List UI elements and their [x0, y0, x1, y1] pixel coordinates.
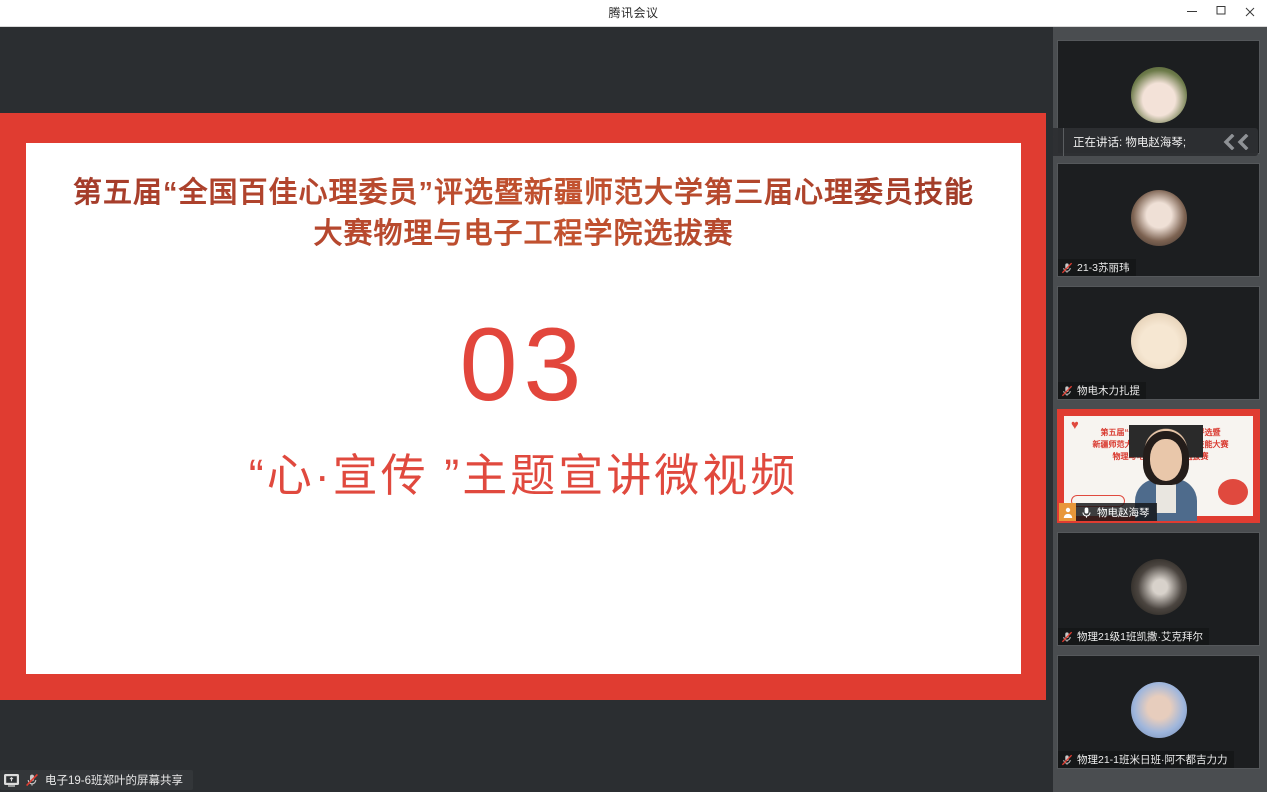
window-title: 腾讯会议: [0, 0, 1267, 26]
speaking-banner-chevrons[interactable]: [1223, 134, 1258, 150]
speaking-banner-mic-cell: [1053, 128, 1064, 156]
slide-page: 第五届“全国百佳心理委员”评选暨新疆师范大学第三届心理委员技能大赛物理与电子工程…: [26, 143, 1021, 674]
participant-tile-4-active-speaker[interactable]: ♥ 第五届“全国百佳心理委员”评选暨新疆师范大学第三届心理委员技能大赛物理与电子…: [1057, 409, 1260, 523]
participant-name: 物理21级1班凯撒·艾克拜尔: [1077, 629, 1203, 644]
screen-share-icon: [4, 774, 19, 787]
speaking-banner-text: 正在讲话: 物电赵海琴;: [1064, 134, 1223, 150]
title-bar: 腾讯会议: [0, 0, 1267, 27]
participant-tile-5[interactable]: 物理21级1班凯撒·艾克拜尔: [1057, 532, 1260, 646]
meeting-window: 腾讯会议 第五届“全国百佳心理委员”评选暨新疆师范大学第三届心理委员技能大赛物理…: [0, 0, 1267, 792]
participant-name-chip: 物电木力扎提: [1058, 382, 1146, 399]
slide-section-number: 03: [26, 313, 1021, 417]
participant-name: 21-3苏丽玮: [1077, 260, 1130, 275]
participant-name-chip: 物电赵海琴: [1059, 503, 1157, 521]
maximize-icon: [1215, 4, 1227, 16]
speaking-banner[interactable]: 正在讲话: 物电赵海琴;: [1053, 128, 1258, 156]
participant-name: 物理21-1班米日班·阿不都吉力力: [1077, 752, 1228, 767]
slide-title: 第五届“全国百佳心理委员”评选暨新疆师范大学第三届心理委员技能大赛物理与电子工程…: [66, 173, 981, 255]
avatar: [1131, 682, 1187, 738]
mic-muted-icon: [25, 773, 39, 787]
chevron-left-icon: [1237, 134, 1250, 150]
participant-name: 物电赵海琴: [1097, 505, 1150, 520]
mic-on-icon: [1080, 506, 1093, 519]
slide-subtitle: “心·宣传 ”主题宣讲微视频: [26, 448, 1021, 504]
participant-tile-2[interactable]: 21-3苏丽玮: [1057, 163, 1260, 277]
participant-tile-3[interactable]: 物电木力扎提: [1057, 286, 1260, 400]
participant-name: 物电木力扎提: [1077, 383, 1140, 398]
avatar: [1131, 190, 1187, 246]
screen-share-status-label: 电子19-6班郑叶的屏幕共享: [45, 772, 183, 788]
chevron-left-icon: [1223, 134, 1236, 150]
shared-screen-stage[interactable]: 第五届“全国百佳心理委员”评选暨新疆师范大学第三届心理委员技能大赛物理与电子工程…: [0, 27, 1053, 792]
mic-muted-icon: [1061, 754, 1073, 766]
mic-muted-icon: [1061, 631, 1073, 643]
screen-share-status-bar: 电子19-6班郑叶的屏幕共享: [0, 770, 193, 790]
mic-muted-icon: [1053, 135, 1054, 150]
avatar: [1131, 313, 1187, 369]
participant-tile-6[interactable]: 物理21-1班米日班·阿不都吉力力: [1057, 655, 1260, 769]
participant-rail[interactable]: 21-3苏丽玮 物电木力扎提 ♥: [1053, 27, 1267, 792]
participant-name-chip: 物理21-1班米日班·阿不都吉力力: [1058, 751, 1234, 768]
close-icon: [1244, 6, 1256, 18]
avatar: [1131, 67, 1187, 123]
minimize-icon: [1186, 5, 1198, 17]
participant-name-chip: 21-3苏丽玮: [1058, 259, 1136, 276]
hand-prop: [1218, 479, 1248, 505]
participant-name-chip: 物理21级1班凯撒·艾克拜尔: [1058, 628, 1209, 645]
speaker-face: [1150, 439, 1182, 481]
avatar: [1131, 559, 1187, 615]
minimize-button[interactable]: [1177, 0, 1207, 26]
maximize-button[interactable]: [1206, 0, 1236, 26]
close-button[interactable]: [1235, 0, 1265, 26]
host-icon: [1059, 503, 1076, 521]
presentation-slide: 第五届“全国百佳心理委员”评选暨新疆师范大学第三届心理委员技能大赛物理与电子工程…: [0, 113, 1046, 700]
mic-muted-icon: [1061, 385, 1073, 397]
mic-muted-icon: [1061, 262, 1073, 274]
